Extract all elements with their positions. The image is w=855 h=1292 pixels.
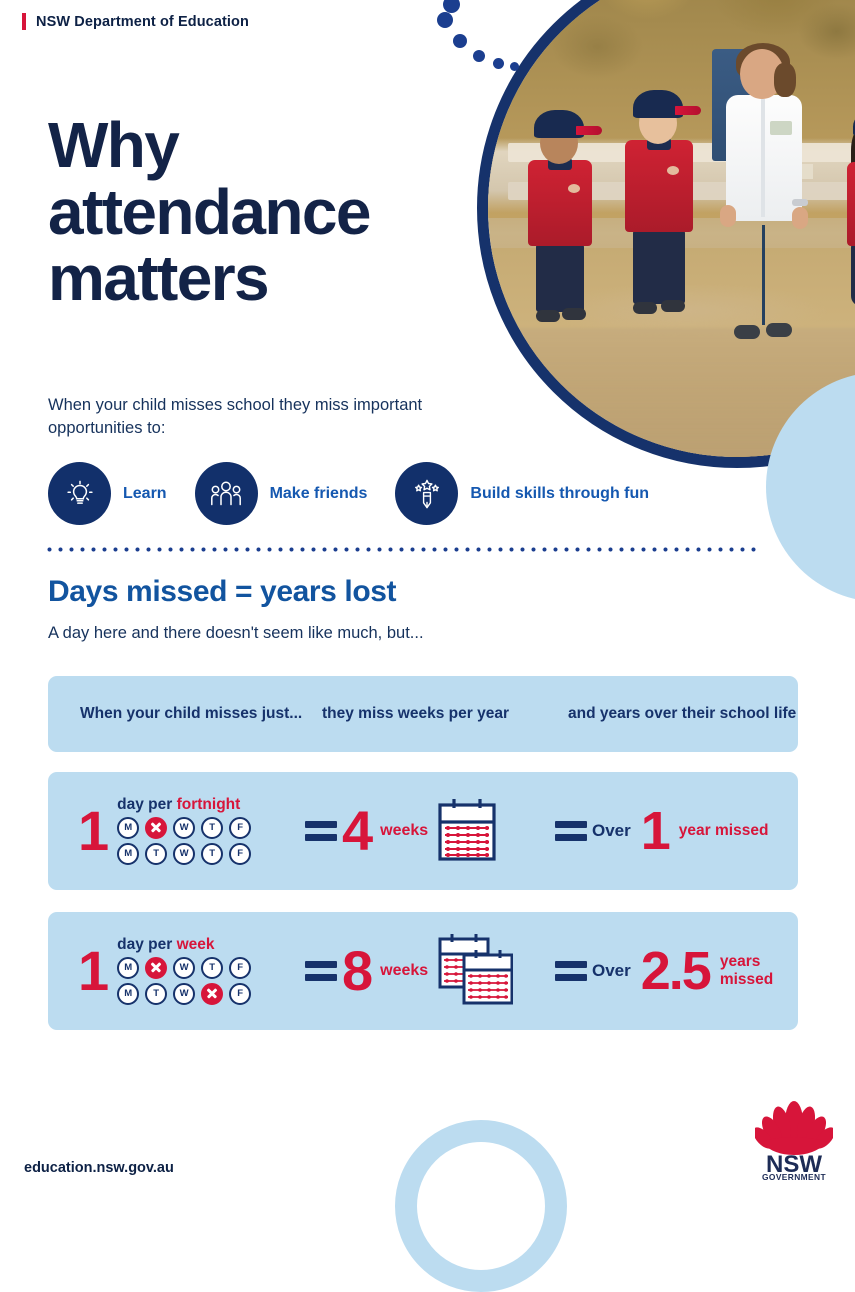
years-number: 1 xyxy=(641,809,669,853)
people-group-icon xyxy=(195,462,258,525)
masthead-title: NSW Department of Education xyxy=(36,14,249,30)
page-title: Why attendance matters xyxy=(48,112,478,312)
row-frequency-cell: 1 day per fortnight M W T F M T W T F xyxy=(48,797,300,865)
equals-sign xyxy=(550,821,592,841)
footer-url[interactable]: education.nsw.gov.au xyxy=(24,1160,174,1176)
weeks-label: weeks xyxy=(380,822,428,840)
years-label: year missed xyxy=(679,822,769,840)
day-circle: W xyxy=(173,843,195,865)
years-number: 2.5 xyxy=(641,949,710,993)
week-two-days: M T W T F xyxy=(117,843,251,865)
table-row: 1 day per fortnight M W T F M T W T F 4 xyxy=(48,772,798,890)
row-weeks-cell: 4 weeks xyxy=(342,796,550,867)
benefit-item-build-skills: Build skills through fun xyxy=(395,462,649,525)
calendar-icon xyxy=(437,796,497,867)
section-title: Days missed = years lost xyxy=(48,575,396,609)
section-subtitle: A day here and there doesn't seem like m… xyxy=(48,624,424,643)
row-frequency-label: day per fortnight xyxy=(117,797,251,813)
benefit-item-make-friends: Make friends xyxy=(195,462,368,525)
row-amount-number: 1 xyxy=(78,808,107,854)
logo-secondary-text: GOVERNMENT xyxy=(762,1172,827,1180)
day-circle-missed xyxy=(201,983,223,1005)
masthead: NSW Department of Education xyxy=(22,13,249,30)
student-figure xyxy=(518,108,604,457)
row-frequency-label: day per week xyxy=(117,937,251,953)
day-circle: T xyxy=(145,843,167,865)
day-circle: F xyxy=(229,817,251,839)
frequency-prefix: day per xyxy=(117,936,176,953)
benefit-label: Learn xyxy=(123,484,167,504)
column-header-years: and years over their school life xyxy=(568,704,798,725)
week-two-days: M T W F xyxy=(117,983,251,1005)
day-circle-missed xyxy=(145,957,167,979)
column-header-weeks: they miss weeks per year xyxy=(322,704,568,725)
bottom-arc-decoration xyxy=(395,1120,567,1292)
row-years-cell: Over 2.5 years missed xyxy=(592,949,798,993)
day-circle: M xyxy=(117,817,139,839)
equals-sign xyxy=(550,961,592,981)
day-circle: M xyxy=(117,957,139,979)
week-one-days: M W T F xyxy=(117,817,251,839)
weeks-number: 8 xyxy=(342,948,371,994)
row-frequency-cell: 1 day per week M W T F M T W F xyxy=(48,937,300,1005)
nsw-government-logo: NSW GOVERNMENT xyxy=(755,1092,833,1180)
week-one-days: M W T F xyxy=(117,957,251,979)
row-amount-number: 1 xyxy=(78,948,107,994)
table-row: 1 day per week M W T F M T W F 8 weeks xyxy=(48,912,798,1030)
table-header-row: When your child misses just... they miss… xyxy=(48,676,798,752)
day-circle: T xyxy=(201,817,223,839)
day-circle: M xyxy=(117,843,139,865)
equals-sign xyxy=(300,821,342,841)
masthead-accent-bar xyxy=(22,13,26,30)
day-circle: F xyxy=(229,843,251,865)
weeks-number: 4 xyxy=(342,808,371,854)
lightbulb-icon xyxy=(48,462,111,525)
dot-arc-decoration xyxy=(425,0,555,90)
calendar-icon-double xyxy=(437,932,513,1011)
day-circle: T xyxy=(201,957,223,979)
day-circle: T xyxy=(145,983,167,1005)
day-circle: F xyxy=(229,957,251,979)
row-years-cell: Over 1 year missed xyxy=(592,809,798,853)
day-circle: W xyxy=(173,983,195,1005)
day-circle: W xyxy=(173,817,195,839)
day-circle: M xyxy=(117,983,139,1005)
benefit-label: Make friends xyxy=(270,484,368,504)
frequency-emphasis: week xyxy=(177,936,215,953)
column-header-frequency: When your child misses just... xyxy=(80,704,322,725)
pencil-stars-icon xyxy=(395,462,458,525)
benefit-item-learn: Learn xyxy=(48,462,167,525)
day-circle-missed xyxy=(145,817,167,839)
equals-sign xyxy=(300,961,342,981)
frequency-prefix: day per xyxy=(117,796,176,813)
over-label: Over xyxy=(592,821,631,841)
row-weeks-cell: 8 weeks xyxy=(342,932,550,1011)
dotted-divider xyxy=(44,547,756,552)
over-label: Over xyxy=(592,961,631,981)
benefits-list: Learn Make friends Build skills xyxy=(48,462,649,525)
weeks-label: weeks xyxy=(380,962,428,980)
day-circle: W xyxy=(173,957,195,979)
intro-text: When your child misses school they miss … xyxy=(48,394,458,441)
frequency-emphasis: fortnight xyxy=(177,796,241,813)
years-label: years missed xyxy=(720,953,798,990)
day-circle: T xyxy=(201,843,223,865)
day-circle: F xyxy=(229,983,251,1005)
student-figure xyxy=(613,88,705,457)
benefit-label: Build skills through fun xyxy=(470,484,649,504)
